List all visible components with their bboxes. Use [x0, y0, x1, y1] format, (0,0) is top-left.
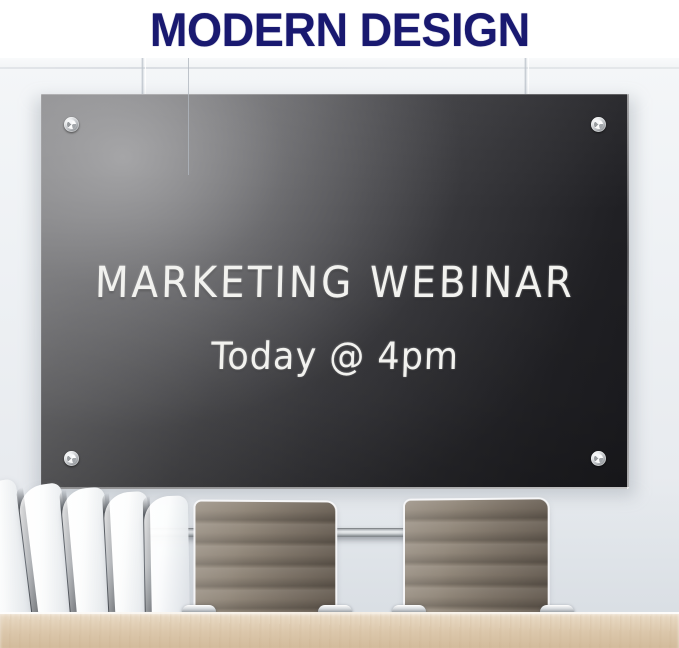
executive-chair	[405, 499, 548, 620]
board-vignette	[41, 94, 629, 489]
product-image: MODERN DESIGN MARKETING WEBINAR Today @ …	[0, 0, 679, 648]
standoff-mount-top-right	[591, 117, 606, 132]
standoff-mount-bottom-right	[591, 451, 606, 466]
conference-table-edge	[0, 612, 679, 614]
conference-table	[0, 612, 679, 648]
executive-chair-back	[195, 501, 335, 620]
board-text-line-2: Today @ 4pm	[41, 335, 629, 378]
board-edge-right	[627, 94, 629, 489]
conference-room-scene: MARKETING WEBINAR Today @ 4pm	[0, 55, 679, 648]
headline-banner: MODERN DESIGN	[0, 0, 679, 58]
headline-text: MODERN DESIGN	[150, 6, 530, 53]
wall-trim-line	[0, 67, 679, 69]
hanging-cable	[188, 55, 189, 175]
executive-chair-back	[405, 499, 548, 620]
marker-tray-seam	[336, 528, 337, 537]
standoff-mount-bottom-left	[64, 451, 79, 466]
board-surface: MARKETING WEBINAR Today @ 4pm	[41, 94, 629, 489]
glass-board: MARKETING WEBINAR Today @ 4pm	[41, 94, 629, 489]
board-text-line-1: MARKETING WEBINAR	[41, 260, 629, 308]
board-edge-bottom	[41, 487, 629, 489]
standoff-mount-top-left	[64, 117, 79, 132]
executive-chair	[195, 501, 335, 620]
